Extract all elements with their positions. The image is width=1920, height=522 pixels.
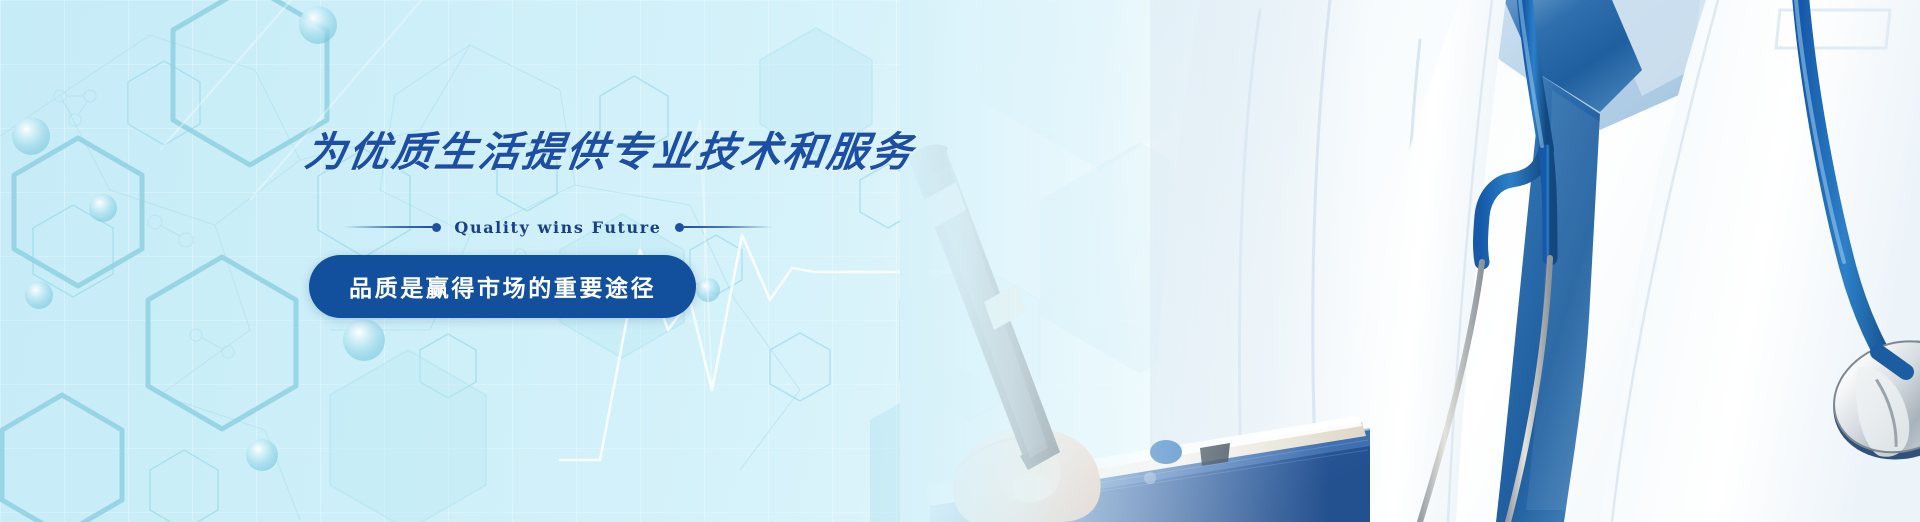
tagline-dot-left [432, 223, 441, 232]
tagline-dot-right [675, 223, 684, 232]
slogan-pill[interactable]: 品质是赢得市场的重要途径 [309, 255, 696, 318]
doctor-illustration [900, 0, 1920, 522]
english-tagline: Quality wins Future [441, 218, 674, 237]
english-tagline-row: Quality wins Future [343, 218, 773, 237]
medical-hero-banner: 为优质生活提供专业技术和服务 Quality wins Future 品质是赢得… [0, 0, 1920, 522]
banner-copy: 为优质生活提供专业技术和服务 Quality wins Future 品质是赢得… [305, 130, 1005, 318]
doctor-photo [900, 0, 1920, 522]
tagline-rule-right [684, 226, 773, 228]
tagline-rule-left [343, 226, 432, 228]
banner-headline: 为优质生活提供专业技术和服务 [302, 130, 1008, 176]
